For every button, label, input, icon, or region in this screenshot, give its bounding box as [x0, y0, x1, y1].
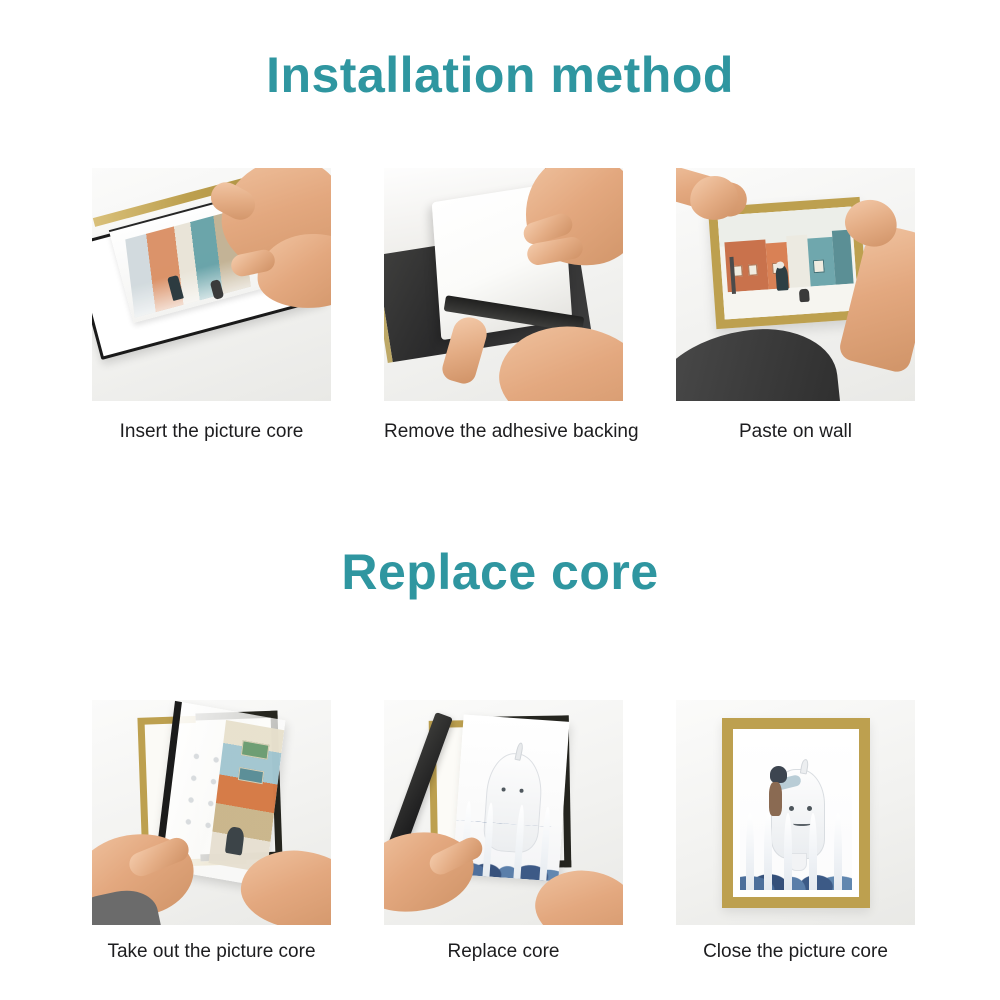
artwork-dog	[799, 289, 809, 302]
gold-photo-frame	[722, 718, 870, 908]
section-title-installation: Installation method	[0, 46, 1000, 104]
street-scene-artwork	[718, 206, 859, 319]
step-caption: Paste on wall	[676, 421, 915, 443]
section-title-replace: Replace core	[0, 543, 1000, 601]
close-core-photo	[676, 700, 915, 925]
replace-steps-row: Take out the picture core	[92, 700, 916, 963]
infographic-page: Installation method Insert the picture c…	[0, 0, 1000, 1000]
artwork-leaf-blade	[746, 813, 754, 890]
core-figure	[225, 826, 245, 856]
gold-photo-frame	[708, 197, 868, 329]
paste-on-wall-photo	[676, 168, 915, 401]
step-insert-the-picture-core: Insert the picture core	[92, 168, 331, 443]
replace-core-photo	[384, 700, 623, 925]
artwork-leaf-blade	[784, 813, 792, 890]
step-caption: Take out the picture core	[92, 941, 331, 963]
step-take-out-the-picture-core: Take out the picture core	[92, 700, 331, 963]
installation-steps-row: Insert the picture core Remove the adhes…	[92, 168, 916, 443]
step-caption: Insert the picture core	[92, 421, 331, 443]
artwork-leaf-blade	[834, 813, 842, 890]
insert-core-photo	[92, 168, 331, 401]
artwork-person	[775, 265, 789, 291]
step-paste-on-wall: Paste on wall	[676, 168, 915, 443]
artwork-monster-eye-right	[807, 806, 812, 811]
step-remove-the-adhesive-backing: Remove the adhesive backing	[384, 168, 623, 443]
artwork-girl-hair	[770, 766, 787, 783]
step-caption: Close the picture core	[676, 941, 915, 963]
peel-backing-photo	[384, 168, 623, 401]
step-caption: Replace core	[384, 941, 623, 963]
step-replace-core: Replace core	[384, 700, 623, 963]
monster-artwork	[740, 736, 852, 890]
artwork-leaf-blade	[764, 813, 772, 890]
step-caption: Remove the adhesive backing	[384, 421, 623, 443]
step-close-the-picture-core: Close the picture core	[676, 700, 915, 963]
artwork-window-4	[813, 259, 825, 273]
artwork-girl-body	[769, 782, 782, 816]
artwork-window-1	[733, 265, 743, 277]
artwork-building-5	[831, 229, 853, 284]
artwork-window-2	[748, 264, 758, 276]
take-out-core-photo	[92, 700, 331, 925]
